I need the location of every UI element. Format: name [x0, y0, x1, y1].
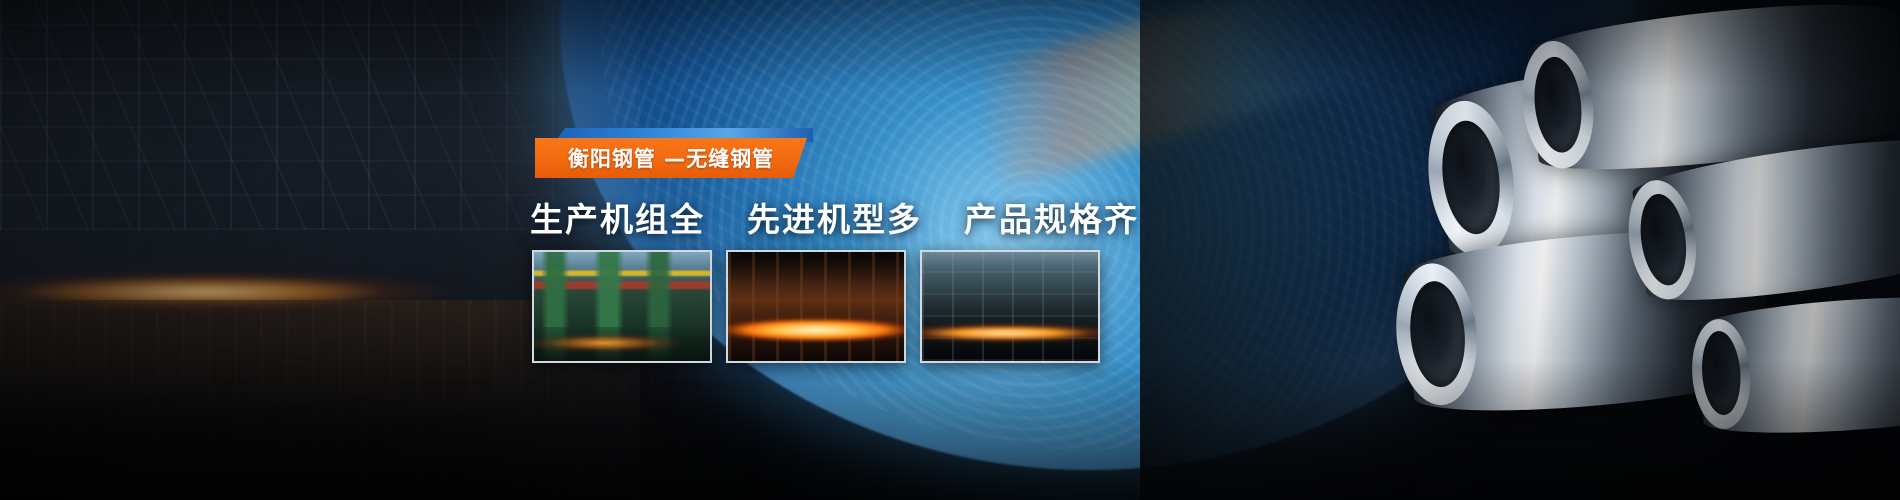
- headline-phrase-1: 生产机组全: [530, 193, 705, 241]
- thumbnail-steel-plant-interior[interactable]: [920, 250, 1100, 363]
- badge-label: 衡阳钢管 —无缝钢管: [568, 143, 774, 173]
- thumbnail-rolling-mill-machinery[interactable]: [532, 250, 712, 363]
- thumbnail-strip: [532, 250, 1100, 363]
- plant-interior-photo: [922, 252, 1098, 361]
- banner-content: 衡阳钢管 —无缝钢管 生产机组全 先进机型多 产品规格齐: [0, 0, 1900, 500]
- hot-billet-photo: [728, 252, 904, 361]
- promo-banner: 衡阳钢管 —无缝钢管 生产机组全 先进机型多 产品规格齐: [0, 0, 1900, 500]
- rolling-mill-photo: [534, 252, 710, 361]
- badge-ribbon: 衡阳钢管 —无缝钢管: [535, 138, 807, 178]
- headline-phrase-2: 先进机型多: [747, 193, 922, 241]
- headline-phrase-3: 产品规格齐: [964, 193, 1139, 241]
- brand-badge: 衡阳钢管 —无缝钢管: [535, 128, 813, 178]
- headline: 生产机组全 先进机型多 产品规格齐: [530, 193, 1139, 241]
- thumbnail-hot-steel-billet[interactable]: [726, 250, 906, 363]
